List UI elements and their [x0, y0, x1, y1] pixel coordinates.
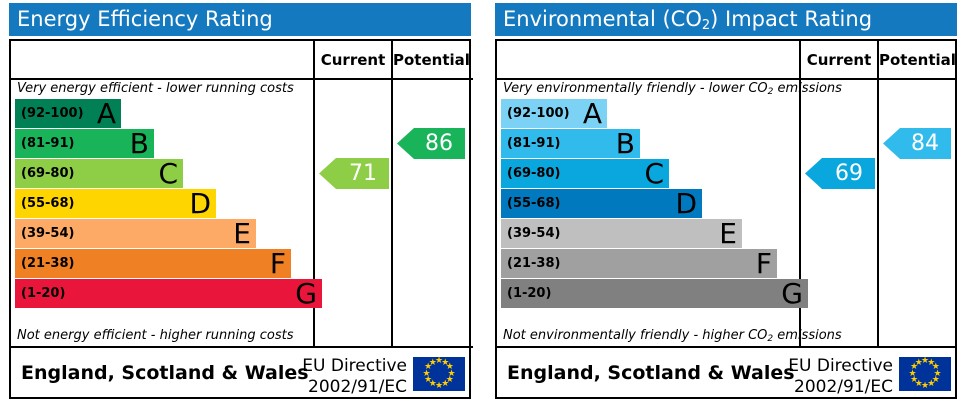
column-divider-current-potential	[391, 41, 393, 348]
band-letter-F: F	[270, 247, 286, 279]
current-rating-arrow: 69	[805, 158, 875, 189]
band-range-C: (69-80)	[21, 159, 74, 188]
band-range-E: (39-54)	[507, 219, 560, 248]
column-header-current: Current	[801, 41, 877, 80]
band-range-G: (1-20)	[21, 279, 65, 308]
eu-flag-star: ★	[914, 359, 923, 368]
band-bar-G: (1-20)G	[501, 279, 808, 308]
eu-flag-star: ★	[428, 359, 437, 368]
band-range-B: (81-91)	[21, 129, 74, 158]
band-letter-A: A	[97, 97, 116, 129]
footer-eu-directive-label: EU Directive2002/91/EC	[785, 356, 893, 398]
band-letter-D: D	[189, 187, 211, 219]
band-bar-E: (39-54)E	[501, 219, 742, 248]
chart-title-environmental-co2-impact: Environmental (CO2) Impact Rating	[495, 3, 957, 36]
band-letter-B: B	[130, 127, 149, 159]
eu-flag-icon: ★★★★★★★★★★★★	[899, 357, 951, 391]
footer-directive-line2: 2002/91/EC	[299, 377, 407, 398]
current-rating-arrow: 71	[319, 158, 389, 189]
band-bar-C: (69-80)C	[501, 159, 669, 188]
caption-suffix: emissions	[773, 81, 842, 96]
caption-prefix: Not environmentally friendly - higher CO	[503, 328, 767, 343]
band-bar-F: (21-38)F	[501, 249, 777, 278]
caption-caption_bottom-environmental-co2-impact: Not environmentally friendly - higher CO…	[503, 328, 842, 343]
band-letter-D: D	[675, 187, 697, 219]
band-range-E: (39-54)	[21, 219, 74, 248]
band-range-B: (81-91)	[507, 129, 560, 158]
footer-row-divider	[497, 346, 957, 348]
chart-title-prefix: Environmental (CO	[503, 7, 702, 31]
band-letter-B: B	[616, 127, 635, 159]
band-letter-E: E	[233, 217, 251, 249]
column-header-potential: Potential	[393, 41, 469, 80]
footer-country-label: England, Scotland & Wales	[21, 362, 309, 384]
rating-table-environmental-co2-impact: CurrentPotentialVery environmentally fri…	[495, 39, 957, 399]
band-letter-E: E	[719, 217, 737, 249]
band-range-D: (55-68)	[507, 189, 560, 218]
footer-eu-directive-label: EU Directive2002/91/EC	[299, 356, 407, 398]
band-letter-G: G	[781, 277, 803, 309]
band-letter-A: A	[583, 97, 602, 129]
column-header-current: Current	[315, 41, 391, 80]
band-range-C: (69-80)	[507, 159, 560, 188]
footer-row-divider	[11, 346, 473, 348]
potential-rating-arrow: 84	[883, 128, 951, 159]
band-range-D: (55-68)	[21, 189, 74, 218]
footer-directive-line2: 2002/91/EC	[785, 377, 893, 398]
band-letter-C: C	[158, 157, 178, 189]
band-bar-D: (55-68)D	[15, 189, 216, 218]
band-bar-D: (55-68)D	[501, 189, 702, 218]
band-letter-F: F	[756, 247, 772, 279]
epc-chart-energy-efficiency: Energy Efficiency RatingCurrentPotential…	[1, 0, 471, 404]
column-divider-current-potential	[877, 41, 879, 348]
band-bar-C: (69-80)C	[15, 159, 183, 188]
chart-title-energy-efficiency: Energy Efficiency Rating	[9, 3, 471, 36]
footer-directive-line1: EU Directive	[299, 356, 407, 377]
caption-prefix: Very environmentally friendly - lower CO	[503, 81, 768, 96]
caption-caption_top-environmental-co2-impact: Very environmentally friendly - lower CO…	[503, 81, 842, 96]
band-bar-E: (39-54)E	[15, 219, 256, 248]
band-letter-C: C	[644, 157, 664, 189]
caption-subscript: 2	[767, 334, 773, 344]
eu-flag-icon: ★★★★★★★★★★★★	[413, 357, 465, 391]
chart-title-suffix: ) Impact Rating	[710, 7, 872, 31]
band-letter-G: G	[295, 277, 317, 309]
potential-rating-arrow: 86	[397, 128, 465, 159]
band-bar-G: (1-20)G	[15, 279, 322, 308]
band-range-F: (21-38)	[21, 249, 74, 278]
band-bar-F: (21-38)F	[15, 249, 291, 278]
epc-chart-environmental-co2-impact: Environmental (CO2) Impact RatingCurrent…	[487, 0, 957, 404]
band-bar-B: (81-91)B	[501, 129, 640, 158]
rating-table-energy-efficiency: CurrentPotentialVery energy efficient - …	[9, 39, 471, 399]
caption-subscript: 2	[768, 87, 774, 97]
column-header-potential: Potential	[879, 41, 955, 80]
caption-caption_top-energy-efficiency: Very energy efficient - lower running co…	[17, 81, 294, 96]
epc-chart-page: Energy Efficiency RatingCurrentPotential…	[0, 0, 957, 404]
band-range-A: (92-100)	[507, 99, 570, 128]
band-range-F: (21-38)	[507, 249, 560, 278]
footer-country-label: England, Scotland & Wales	[507, 362, 795, 384]
band-range-G: (1-20)	[507, 279, 551, 308]
caption-caption_bottom-energy-efficiency: Not energy efficient - higher running co…	[17, 328, 293, 343]
band-bar-A: (92-100)A	[501, 99, 607, 128]
chart-title-subscript: 2	[702, 18, 710, 33]
band-bar-B: (81-91)B	[15, 129, 154, 158]
band-bar-A: (92-100)A	[15, 99, 121, 128]
footer-directive-line1: EU Directive	[785, 356, 893, 377]
caption-suffix: emissions	[773, 328, 842, 343]
band-range-A: (92-100)	[21, 99, 84, 128]
